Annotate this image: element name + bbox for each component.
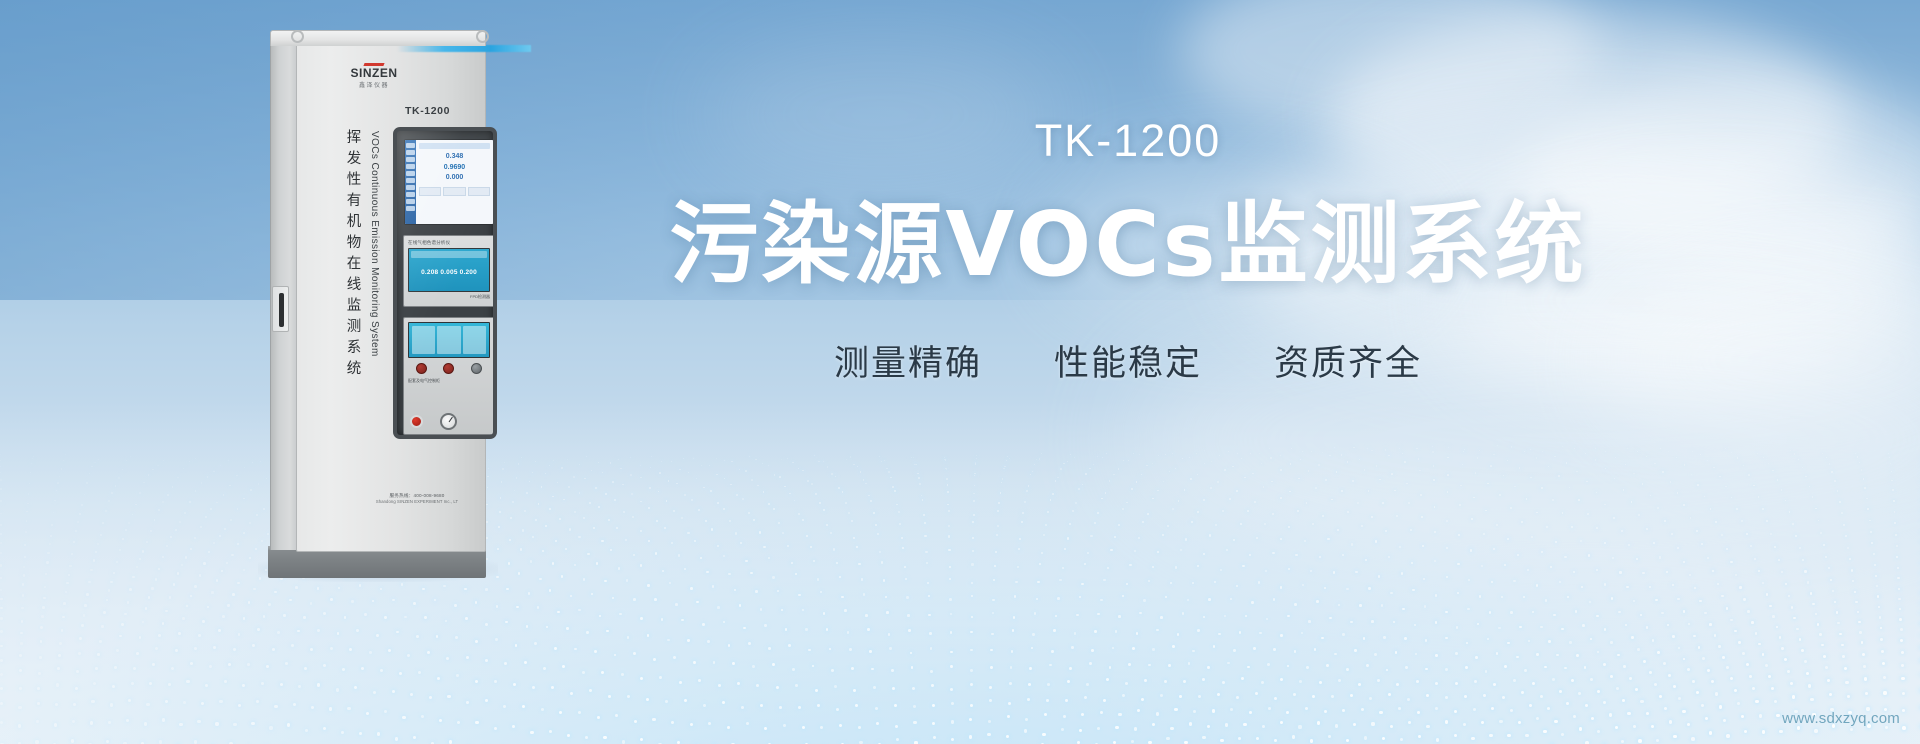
hmi-main-area: 0.348 0.9690 0.000	[416, 140, 493, 224]
cabinet-door-handle[interactable]	[272, 286, 289, 332]
analyzer-readout: 0.208 0.005 0.200	[411, 269, 487, 276]
cabinet-model-plate: TK-1200	[405, 105, 450, 117]
banner-copy-block: TK-1200 污染源VOCs监测系统 测量精确 性能稳定 资质齐全	[548, 118, 1708, 386]
emergency-stop-button[interactable]	[410, 415, 423, 428]
analyzer-footer-label: FPD检测器	[408, 294, 490, 300]
analyzer-display-header	[411, 251, 487, 258]
banner-stage: SINZEN 鑫泽仪器 TK-1200 挥发性有机物在线监测系统 VOCs Co…	[0, 0, 1920, 744]
site-watermark: www.sdxzyq.com	[1782, 710, 1900, 727]
lifting-eyebolt-left	[291, 30, 304, 43]
hmi-value-1: 0.348	[419, 152, 490, 163]
banner-feature-list: 测量精确 性能稳定 资质齐全	[548, 335, 1708, 386]
control-knob-red[interactable]	[443, 363, 454, 374]
brand-accent-bar	[363, 63, 384, 66]
cabinet-accent-stripe	[397, 45, 531, 52]
cabinet-brand: SINZEN 鑫泽仪器	[331, 63, 417, 89]
analyzer-display: 0.208 0.005 0.200	[408, 248, 490, 292]
hmi-value-2: 0.9690	[419, 163, 490, 174]
hmi-side-menu[interactable]	[405, 140, 416, 224]
product-model-label: TK-1200	[548, 118, 1708, 163]
feature-item-2: 性能稳定	[1054, 335, 1202, 386]
feature-item-1: 测量精确	[834, 335, 982, 386]
control-knob-grey[interactable]	[471, 363, 482, 374]
banner-headline: 污染源VOCs监测系统	[548, 197, 1708, 291]
gas-chromatograph-module: 在线气相色谱分析仪 0.208 0.005 0.200 FPD检测器	[403, 235, 495, 307]
cabinet-top-cap	[270, 30, 486, 46]
brand-chinese-text: 鑫泽仪器	[331, 80, 417, 89]
brand-logo-text: SINZEN	[331, 67, 417, 79]
lifting-eyebolt-right	[476, 30, 489, 43]
cabinet-vertical-chinese-label: 挥发性有机物在线监测系统	[345, 129, 360, 381]
feature-item-3: 资质齐全	[1274, 335, 1422, 386]
analyzer-panel-label: 在线气相色谱分析仪	[408, 240, 490, 246]
cabinet-front-panel: SINZEN 鑫泽仪器 TK-1200 挥发性有机物在线监测系统 VOCs Co…	[296, 30, 486, 552]
control-knob-row[interactable]	[408, 363, 490, 374]
cabinet-service-sticker: 服务热线：400-008-9680 Shandong SINZEN EXPERI…	[351, 493, 483, 505]
control-panel-label: 配套及电气控制柜	[408, 378, 490, 384]
product-cabinet: SINZEN 鑫泽仪器 TK-1200 挥发性有机物在线监测系统 VOCs Co…	[252, 18, 502, 578]
hmi-touchscreen[interactable]: 0.348 0.9690 0.000	[404, 139, 494, 225]
cabinet-vertical-english-label: VOCs Continuous Emission Monitoring Syst…	[369, 131, 380, 357]
hmi-button-grid[interactable]	[419, 187, 490, 196]
company-name-text: Shandong SINZEN EXPERIMENT Inc., LT	[351, 499, 483, 505]
control-module: 配套及电气控制柜	[403, 317, 495, 435]
hmi-title-bar	[419, 143, 490, 149]
cabinet-instrument-bay: 0.348 0.9690 0.000 在线气相色谱分析仪 0.208 0.005…	[393, 127, 497, 439]
control-display	[408, 322, 490, 358]
pressure-gauge	[440, 413, 457, 430]
hmi-value-3: 0.000	[419, 173, 490, 184]
control-knob-red[interactable]	[416, 363, 427, 374]
